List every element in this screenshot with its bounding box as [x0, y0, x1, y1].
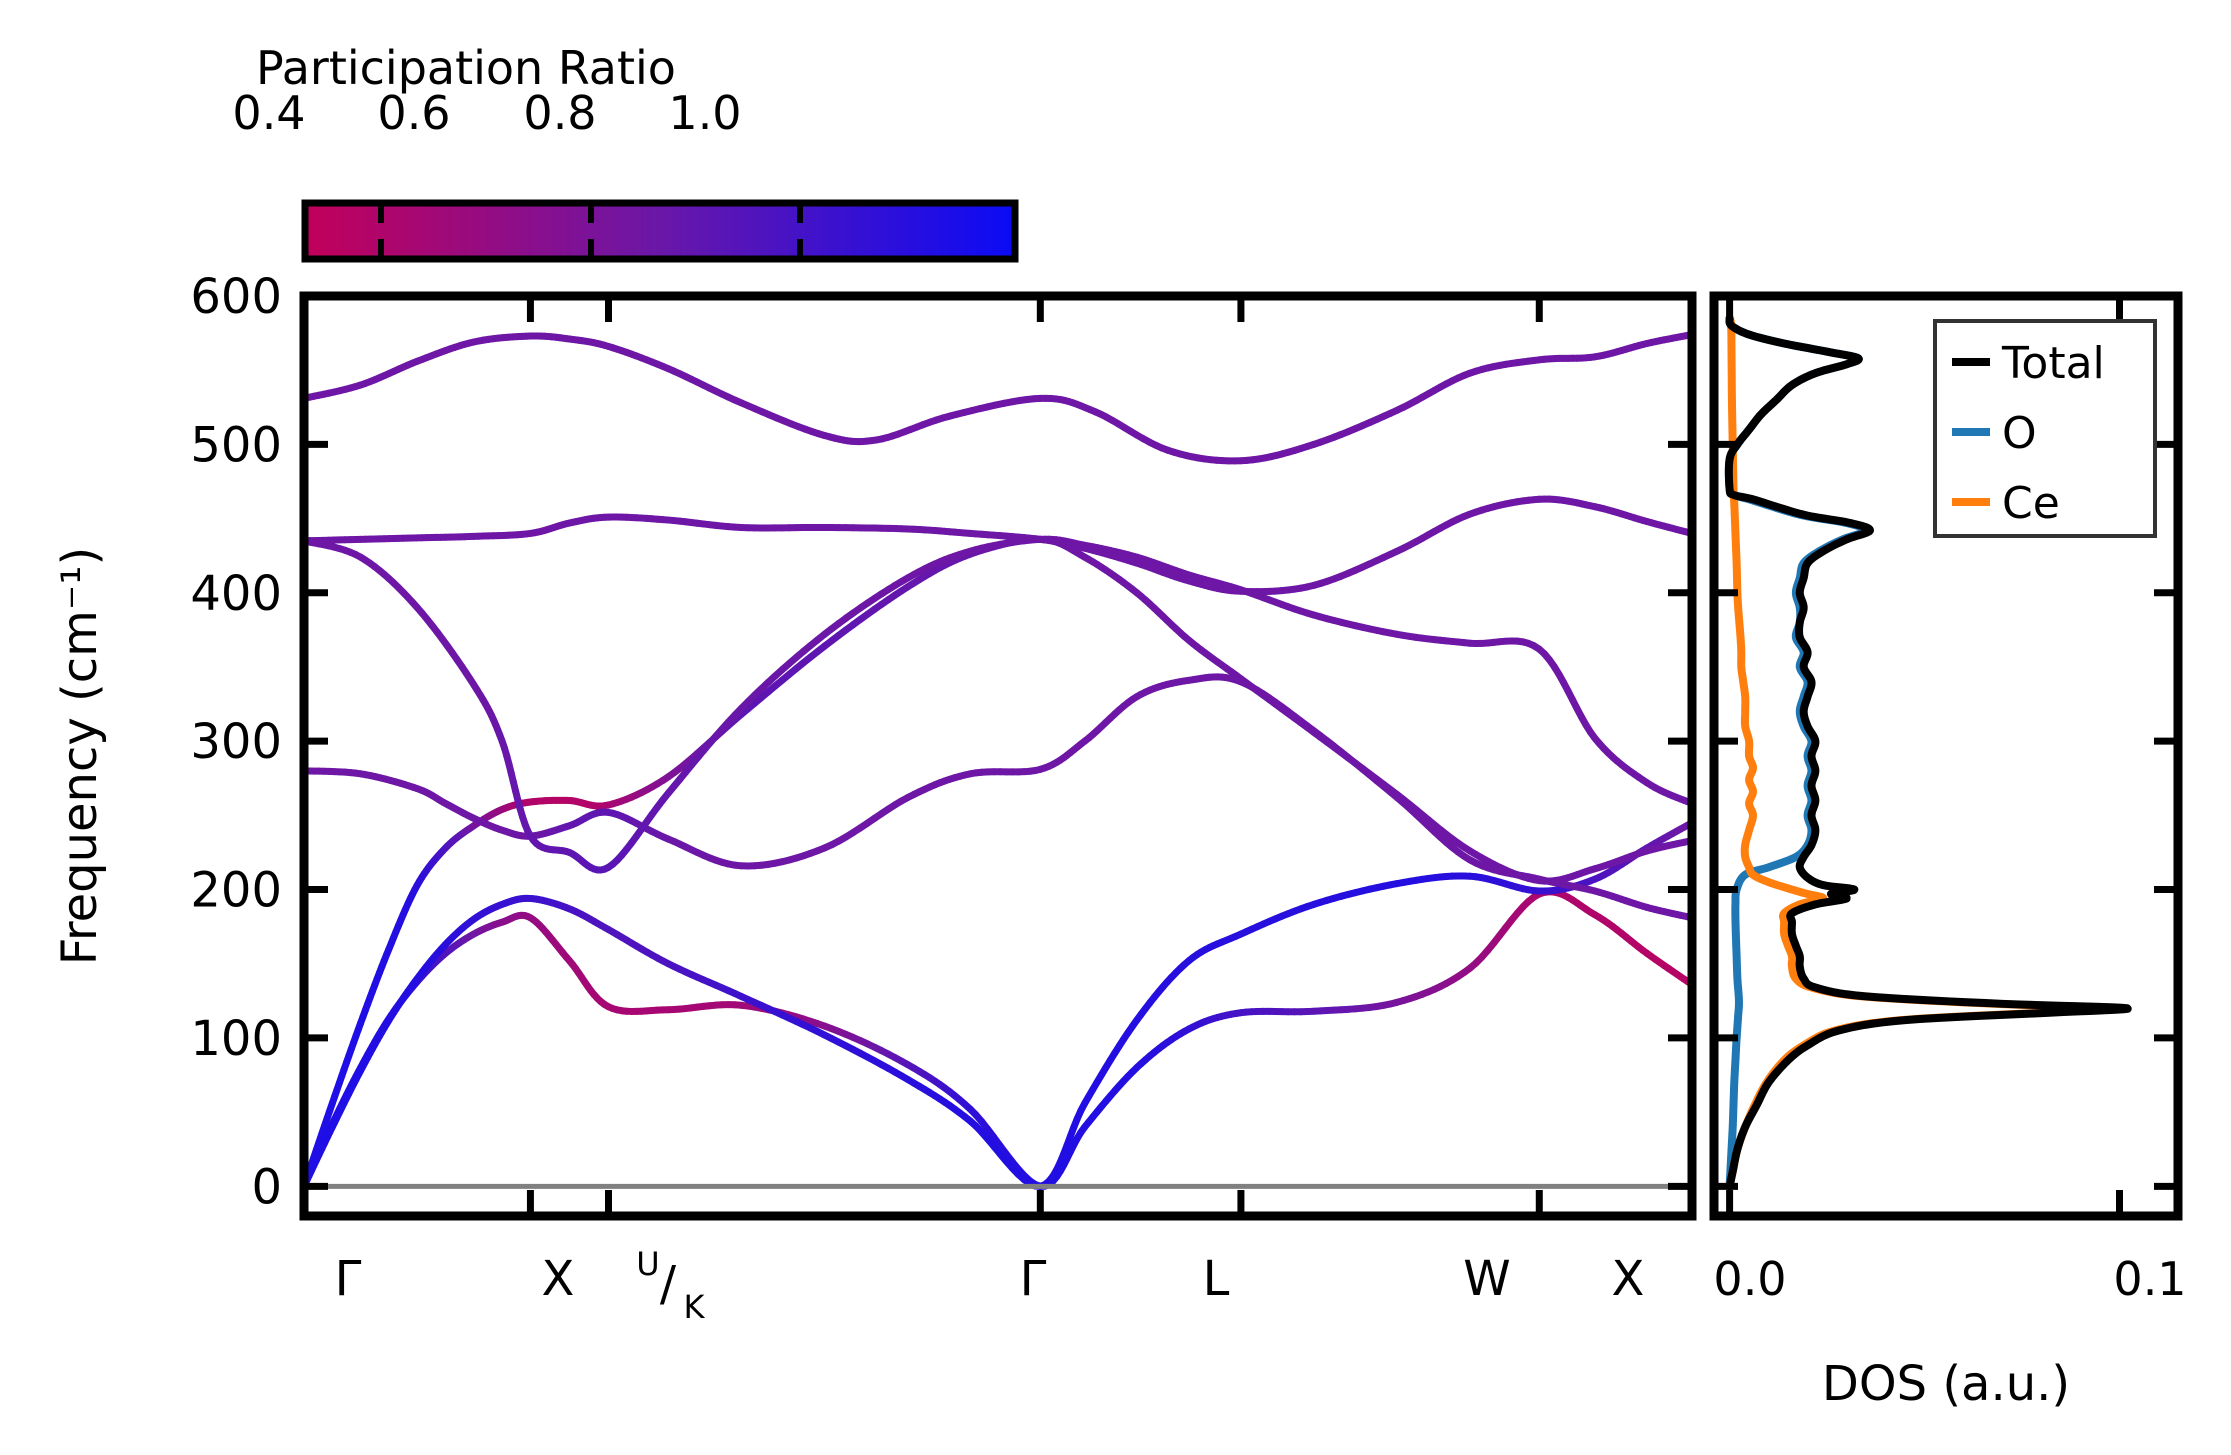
ktick-label-slash: / — [660, 1256, 677, 1312]
ktick-label-gamma-1: Γ — [335, 1251, 362, 1307]
ktick-label-w: W — [1463, 1251, 1510, 1307]
colorbar-tick-label-1: 0.6 — [377, 86, 450, 140]
legend-label-total: Total — [2001, 338, 2105, 389]
ktick-label-x-1: X — [542, 1251, 575, 1307]
ktick-label-x-2: X — [1612, 1251, 1645, 1307]
colorbar-tick-label-0: 0.4 — [232, 86, 305, 140]
dos-legend: Total O Ce — [1935, 321, 2155, 536]
ktick-label-gamma-2: Γ — [1020, 1251, 1047, 1307]
band-y-tick-label-100: 100 — [190, 1011, 282, 1067]
legend-label-ce: Ce — [2002, 478, 2060, 529]
band-y-tick-label-400: 400 — [190, 566, 282, 622]
band-y-tick-label-500: 500 — [190, 417, 282, 473]
phonon-figure: Participation Ratio 0.4 0.6 0.8 1.0 0100… — [0, 0, 2231, 1455]
band-y-tick-label-0: 0 — [251, 1159, 282, 1215]
dos-x-tick-label-1: 0.1 — [2113, 1252, 2186, 1306]
band-y-tick-label-200: 200 — [190, 863, 282, 919]
ktick-label-u: U — [636, 1245, 659, 1283]
ktick-label-k: K — [684, 1288, 706, 1326]
band-y-tick-label-600: 600 — [190, 269, 282, 325]
colorbar-title: Participation Ratio — [256, 41, 676, 95]
dos-x-axis-label: DOS (a.u.) — [1822, 1356, 2070, 1412]
colorbar-tick-label-2: 0.8 — [523, 86, 596, 140]
legend-label-o: O — [2002, 408, 2037, 459]
colorbar-gradient — [305, 203, 1015, 259]
band-y-tick-label-300: 300 — [190, 714, 282, 770]
colorbar-tick-label-3: 1.0 — [668, 86, 741, 140]
band-y-axis-label: Frequency (cm⁻¹) — [52, 547, 108, 965]
dos-x-tick-label-0: 0.0 — [1713, 1252, 1786, 1306]
ktick-label-l: L — [1203, 1251, 1230, 1307]
